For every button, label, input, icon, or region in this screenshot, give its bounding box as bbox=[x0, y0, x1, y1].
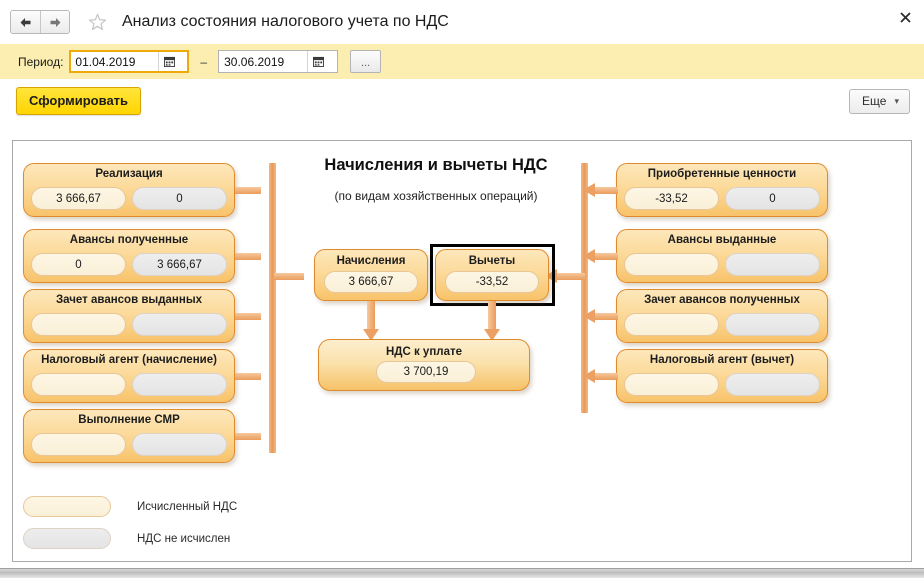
diagram-subtitle: (по видам хозяйственных операций) bbox=[291, 189, 581, 203]
arrow-right-icon bbox=[49, 17, 62, 28]
chevron-down-icon: ▾ bbox=[894, 96, 899, 107]
period-select-button[interactable]: ... bbox=[350, 50, 381, 73]
connector-arrow-left bbox=[583, 369, 618, 383]
result-box-caption: НДС к уплате bbox=[319, 346, 529, 358]
period-label: Период: bbox=[18, 55, 63, 69]
connector-arrow-right bbox=[235, 309, 271, 323]
value-calculated bbox=[624, 253, 719, 276]
connector-arrow-right bbox=[235, 369, 271, 383]
result-box-vat-payable[interactable]: НДС к уплате 3 700,19 bbox=[318, 339, 530, 391]
operation-box-realization[interactable]: Реализация 3 666,67 0 bbox=[23, 163, 235, 217]
period-to-input[interactable] bbox=[219, 52, 307, 71]
value-not-calculated bbox=[132, 433, 227, 456]
operation-box-values bbox=[624, 313, 820, 336]
value-calculated bbox=[31, 373, 126, 396]
center-box-value: -33,52 bbox=[445, 271, 539, 293]
center-box-caption: Вычеты bbox=[436, 255, 548, 267]
back-button[interactable] bbox=[11, 11, 40, 33]
operation-box-values bbox=[31, 373, 227, 396]
operation-box-advances-received[interactable]: Авансы полученные 0 3 666,67 bbox=[23, 229, 235, 283]
operation-box-values: 3 666,67 0 bbox=[31, 187, 227, 210]
operation-box-values bbox=[624, 253, 820, 276]
connector-bus-to-accrual bbox=[274, 269, 314, 283]
legend-label-calculated: Исчисленный НДС bbox=[137, 501, 237, 513]
center-box-deductions[interactable]: Вычеты -33,52 bbox=[435, 249, 549, 301]
period-from-field[interactable] bbox=[69, 50, 189, 73]
operation-box-offset-advances-issued[interactable]: Зачет авансов выданных bbox=[23, 289, 235, 343]
connector-arrow-down-deductions bbox=[484, 301, 500, 341]
legend-swatch-calculated bbox=[23, 496, 111, 517]
center-box-value: 3 666,67 bbox=[324, 271, 418, 293]
connector-arrow-left bbox=[583, 183, 618, 197]
connector-arrow-left bbox=[583, 309, 618, 323]
more-menu-button[interactable]: Еще ▾ bbox=[849, 89, 910, 114]
operation-box-construction-works[interactable]: Выполнение СМР bbox=[23, 409, 235, 463]
application-window: Анализ состояния налогового учета по НДС… bbox=[0, 0, 924, 578]
operation-box-values: -33,52 0 bbox=[624, 187, 820, 210]
operation-box-values: 0 3 666,67 bbox=[31, 253, 227, 276]
period-from-calendar-button[interactable] bbox=[158, 51, 180, 72]
operation-box-caption: Налоговый агент (вычет) bbox=[617, 354, 827, 366]
operation-box-caption: Налоговый агент (начисление) bbox=[24, 354, 234, 366]
operation-box-caption: Авансы полученные bbox=[24, 234, 234, 246]
value-not-calculated bbox=[725, 253, 820, 276]
more-menu-label: Еще bbox=[862, 94, 886, 108]
operation-box-acquired-values[interactable]: Приобретенные ценности -33,52 0 bbox=[616, 163, 828, 217]
connector-arrow-down-accruals bbox=[363, 301, 379, 341]
value-not-calculated: 0 bbox=[132, 187, 227, 210]
value-calculated: 0 bbox=[31, 253, 126, 276]
value-not-calculated: 3 666,67 bbox=[132, 253, 227, 276]
value-calculated bbox=[31, 313, 126, 336]
period-separator: – bbox=[200, 55, 207, 69]
connector-arrow-right bbox=[235, 249, 271, 263]
operation-box-values bbox=[31, 433, 227, 456]
report-toolbar: Сформировать Еще ▾ bbox=[0, 79, 924, 123]
period-to-field[interactable] bbox=[218, 50, 338, 73]
star-icon bbox=[88, 13, 107, 32]
page-title: Анализ состояния налогового учета по НДС bbox=[122, 13, 449, 31]
connector-arrow-left bbox=[583, 249, 618, 263]
connector-arrow-right bbox=[235, 183, 271, 197]
report-canvas: Начисления и вычеты НДС (по видам хозяйс… bbox=[12, 140, 912, 562]
close-icon[interactable] bbox=[896, 8, 914, 26]
connector-arrow-right bbox=[235, 429, 271, 443]
operation-box-caption: Выполнение СМР bbox=[24, 414, 234, 426]
operation-box-caption: Зачет авансов полученных bbox=[617, 294, 827, 306]
legend-label-not-calculated: НДС не исчислен bbox=[137, 533, 230, 545]
value-not-calculated bbox=[725, 313, 820, 336]
calendar-icon bbox=[313, 56, 324, 67]
value-not-calculated bbox=[132, 313, 227, 336]
operation-box-tax-agent-deduction[interactable]: Налоговый агент (вычет) bbox=[616, 349, 828, 403]
navigation-button-group bbox=[10, 10, 70, 34]
operation-box-caption: Приобретенные ценности bbox=[617, 168, 827, 180]
title-bar: Анализ состояния налогового учета по НДС bbox=[0, 0, 924, 44]
period-to-calendar-button[interactable] bbox=[307, 51, 329, 72]
operation-box-offset-advances-received[interactable]: Зачет авансов полученных bbox=[616, 289, 828, 343]
left-bus-line bbox=[269, 163, 276, 453]
operation-box-advances-issued[interactable]: Авансы выданные bbox=[616, 229, 828, 283]
operation-box-tax-agent-accrual[interactable]: Налоговый агент (начисление) bbox=[23, 349, 235, 403]
center-box-caption: Начисления bbox=[315, 255, 427, 267]
value-calculated: 3 666,67 bbox=[31, 187, 126, 210]
diagram-title: Начисления и вычеты НДС bbox=[291, 156, 581, 175]
arrow-left-icon bbox=[19, 17, 32, 28]
value-not-calculated: 0 bbox=[725, 187, 820, 210]
value-calculated bbox=[624, 313, 719, 336]
period-filter-bar: Период: – bbox=[0, 44, 924, 79]
value-not-calculated bbox=[132, 373, 227, 396]
operation-box-caption: Зачет авансов выданных bbox=[24, 294, 234, 306]
window-bottom-chrome bbox=[0, 568, 924, 578]
value-calculated: -33,52 bbox=[624, 187, 719, 210]
operation-box-values bbox=[31, 313, 227, 336]
center-box-accruals[interactable]: Начисления 3 666,67 bbox=[314, 249, 428, 301]
operation-box-caption: Авансы выданные bbox=[617, 234, 827, 246]
forward-button[interactable] bbox=[40, 11, 69, 33]
operation-box-caption: Реализация bbox=[24, 168, 234, 180]
result-box-value: 3 700,19 bbox=[376, 361, 476, 383]
calendar-icon bbox=[164, 56, 175, 67]
legend-swatch-not-calculated bbox=[23, 528, 111, 549]
value-calculated bbox=[624, 373, 719, 396]
close-glyph-icon bbox=[900, 12, 911, 23]
generate-report-button[interactable]: Сформировать bbox=[16, 87, 141, 115]
legend-item-calculated: Исчисленный НДС bbox=[23, 496, 237, 517]
favorite-star-icon[interactable] bbox=[86, 11, 108, 33]
value-calculated bbox=[31, 433, 126, 456]
value-not-calculated bbox=[725, 373, 820, 396]
operation-box-values bbox=[624, 373, 820, 396]
legend-item-not-calculated: НДС не исчислен bbox=[23, 528, 230, 549]
period-from-input[interactable] bbox=[70, 52, 158, 71]
